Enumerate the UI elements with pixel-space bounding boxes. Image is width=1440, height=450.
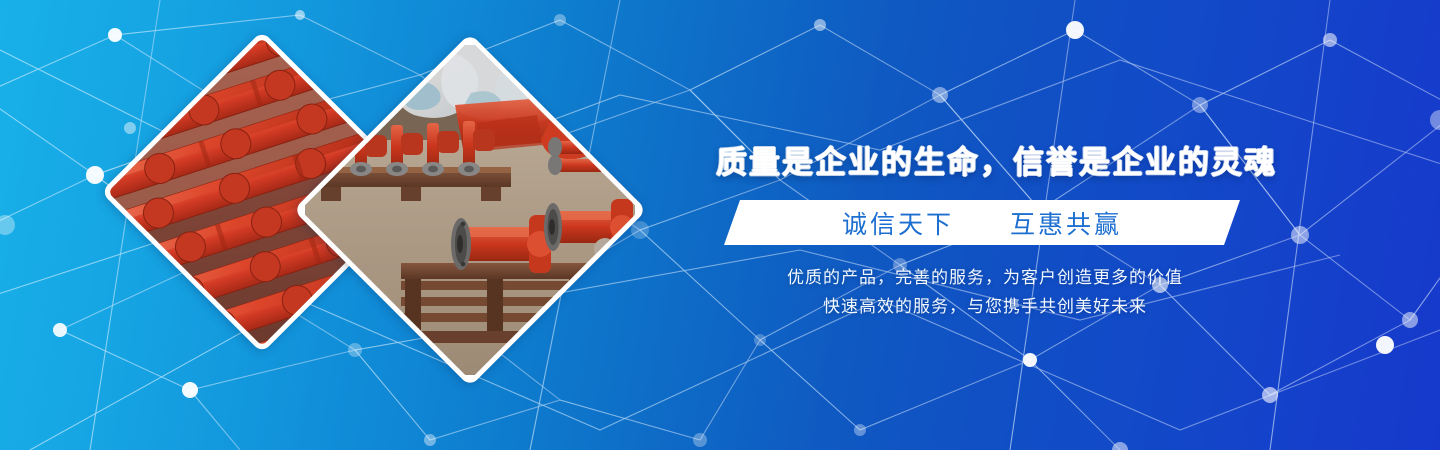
subtext-line-2: 快速高效的服务，与您携手共创美好未来 xyxy=(700,292,1270,321)
promo-banner: 质量是企业的生命，信誉是企业的灵魂 诚信天下 互惠共赢 优质的产品，完善的服务，… xyxy=(0,0,1440,450)
banner-headline: 质量是企业的生命，信誉是企业的灵魂 xyxy=(716,137,1256,182)
product-photo-diamonds xyxy=(0,0,700,450)
banner-subtext: 优质的产品，完善的服务，为客户创造更多的价值 快速高效的服务，与您携手共创美好未… xyxy=(700,263,1270,321)
slogan-ribbon: 诚信天下 互惠共赢 xyxy=(724,200,1240,245)
warehouse-shaft-couplings-art xyxy=(305,45,635,375)
subtext-line-1: 优质的产品，完善的服务，为客户创造更多的价值 xyxy=(700,263,1270,292)
slogan-ribbon-text: 诚信天下 互惠共赢 xyxy=(724,200,1240,245)
product-image-right-frame xyxy=(300,40,639,379)
product-image-right xyxy=(293,33,647,387)
